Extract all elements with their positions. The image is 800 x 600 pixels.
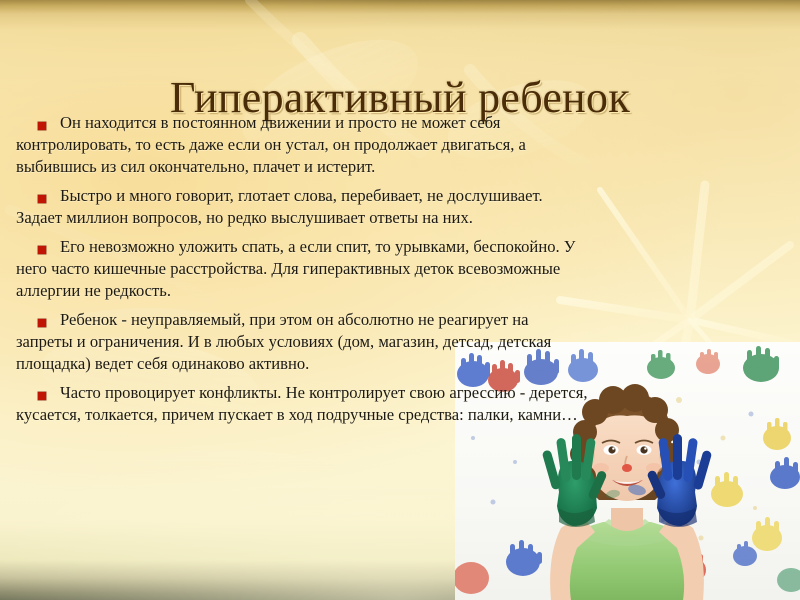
bullet-square-icon	[38, 319, 46, 327]
slide-body: Он находится в постоянном движении и про…	[16, 112, 588, 426]
bullet-item-text: Его невозможно уложить спать, а если спи…	[16, 237, 576, 300]
bullet-item: Он находится в постоянном движении и про…	[16, 112, 588, 178]
bullet-square-icon	[38, 246, 46, 254]
bullet-square-icon	[38, 195, 46, 203]
bullet-item-text: Часто провоцирует конфликты. Не контроли…	[16, 383, 587, 424]
bullet-square-icon	[38, 392, 46, 400]
presentation-slide: Гиперактивный ребенок Он находится в пос…	[0, 0, 800, 600]
bullet-item-text: Ребенок - неуправляемый, при этом он абс…	[16, 310, 551, 373]
bullet-item: Часто провоцирует конфликты. Не контроли…	[16, 382, 588, 426]
bullet-item: Ребенок - неуправляемый, при этом он абс…	[16, 309, 588, 375]
bullet-item-text: Быстро и много говорит, глотает слова, п…	[16, 186, 543, 227]
bullet-item: Его невозможно уложить спать, а если спи…	[16, 236, 588, 302]
bullet-item: Быстро и много говорит, глотает слова, п…	[16, 185, 588, 229]
bullet-square-icon	[38, 122, 46, 130]
bullet-item-text: Он находится в постоянном движении и про…	[16, 113, 526, 176]
